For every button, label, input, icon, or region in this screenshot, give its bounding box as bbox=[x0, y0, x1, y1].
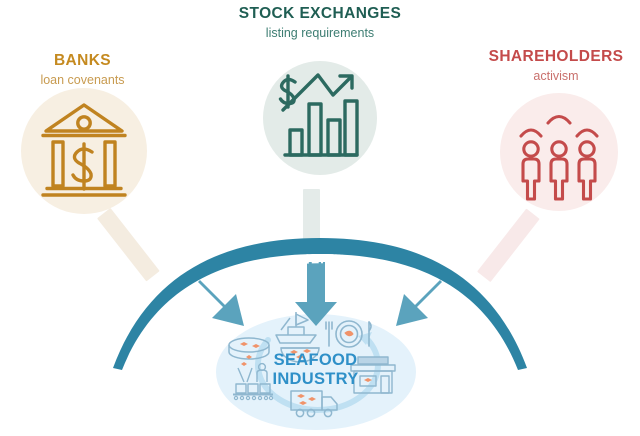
infographic-canvas: SUSTAINABILITY CRITERIA BANKS loan coven… bbox=[0, 0, 640, 436]
connector-banks bbox=[97, 208, 160, 282]
connector-shareholders bbox=[477, 209, 540, 283]
seafood-label-line2: INDUSTRY bbox=[258, 370, 373, 389]
seafood-industry-label: SEAFOOD INDUSTRY bbox=[258, 351, 373, 389]
stakeholder-label-shareholders: SHAREHOLDERS activism bbox=[472, 48, 640, 83]
stock-exchanges-title: STOCK EXCHANGES bbox=[203, 5, 437, 23]
stakeholder-circle-shareholders[interactable] bbox=[500, 93, 618, 211]
banks-subtitle: loan covenants bbox=[0, 73, 165, 87]
banks-title: BANKS bbox=[0, 52, 165, 70]
stakeholder-circle-stock-exchanges[interactable] bbox=[263, 61, 377, 175]
stakeholder-label-stock-exchanges: STOCK EXCHANGES listing requirements bbox=[203, 5, 437, 40]
stakeholder-label-banks: BANKS loan covenants bbox=[0, 52, 165, 87]
shareholders-title: SHAREHOLDERS bbox=[472, 48, 640, 66]
stock-exchanges-subtitle: listing requirements bbox=[203, 26, 437, 40]
arrow-to-seafood-right bbox=[396, 280, 442, 326]
stakeholder-circle-banks[interactable] bbox=[21, 88, 147, 214]
shareholders-subtitle: activism bbox=[472, 69, 640, 83]
arrow-to-seafood-left bbox=[198, 280, 244, 326]
seafood-label-line1: SEAFOOD bbox=[258, 351, 373, 370]
